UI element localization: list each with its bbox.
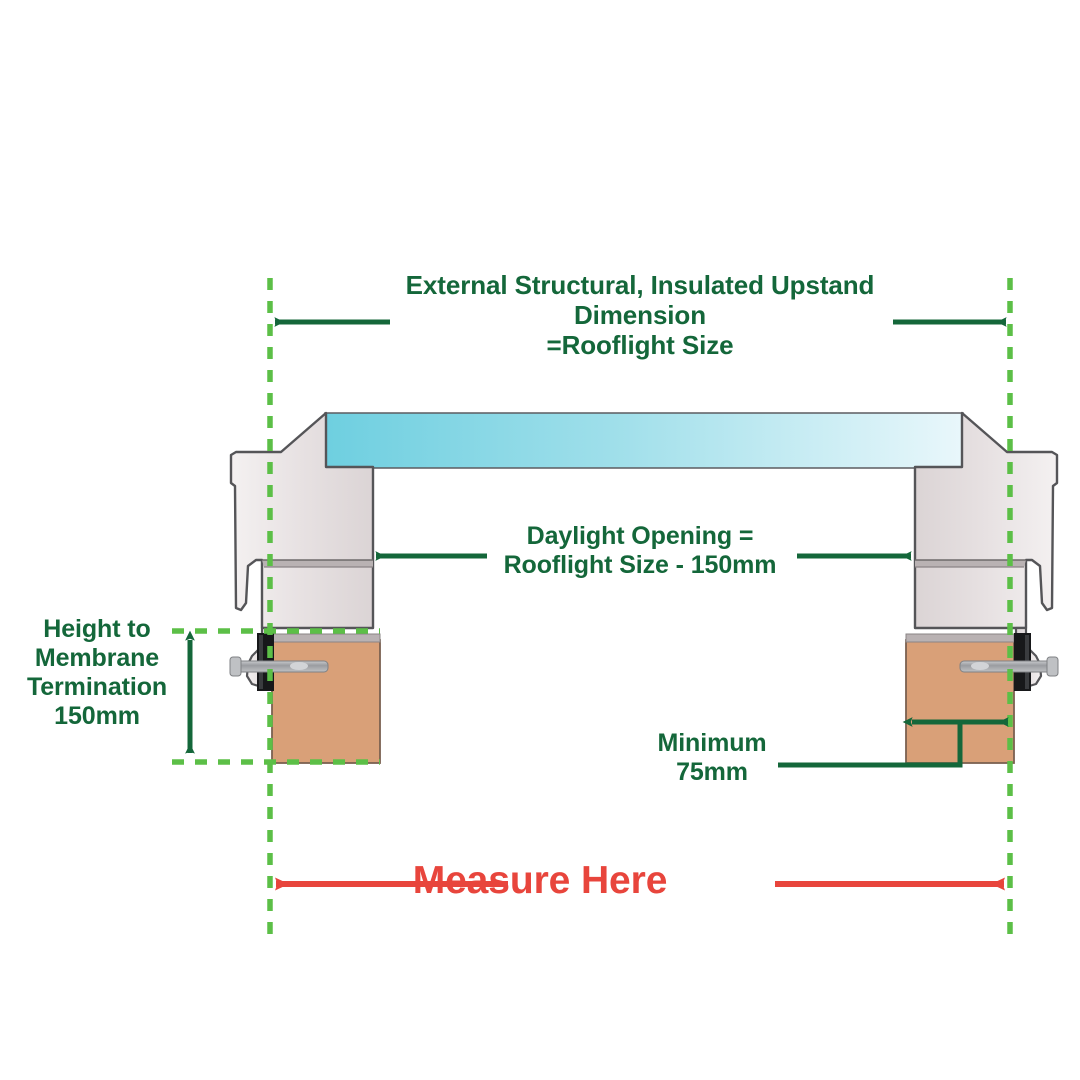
label-external-upstand-dimension: External Structural, Insulated Upstand D…: [330, 270, 950, 360]
glazing-panel: [325, 413, 963, 468]
label-daylight-line1: Daylight Opening =: [420, 522, 860, 551]
label-height-line1: Height to: [8, 615, 186, 644]
label-daylight-line2: Rooflight Size - 150mm: [420, 551, 860, 580]
label-measure-here: Measure Here: [400, 858, 680, 903]
label-min-line2: 75mm: [612, 758, 812, 787]
label-height-line4: 150mm: [8, 702, 186, 731]
label-height-line2: Membrane: [8, 644, 186, 673]
left-upstand-timber: [272, 634, 380, 763]
diagram-canvas: External Structural, Insulated Upstand D…: [0, 0, 1080, 1080]
label-daylight-opening: Daylight Opening = Rooflight Size - 150m…: [420, 522, 860, 580]
label-height-line3: Termination: [8, 673, 186, 702]
label-min-line1: Minimum: [612, 729, 812, 758]
label-minimum-75mm: Minimum 75mm: [612, 729, 812, 787]
label-upstand-line3: =Rooflight Size: [330, 330, 950, 360]
label-height-to-membrane-termination: Height to Membrane Termination 150mm: [8, 615, 186, 731]
label-upstand-line1: External Structural, Insulated Upstand: [330, 270, 950, 300]
label-upstand-line2: Dimension: [330, 300, 950, 330]
